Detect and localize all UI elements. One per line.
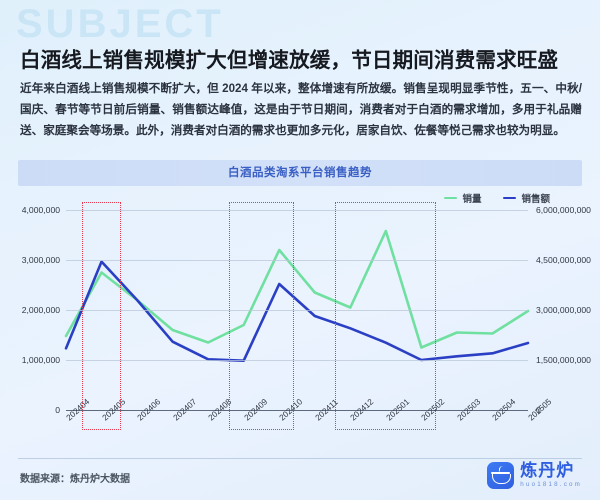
brand-name: 炼丹炉 (520, 462, 582, 479)
infographic-page: SUBJECT 白酒线上销售规模扩大但增速放缓，节日期间消费需求旺盛 近年来白酒… (0, 0, 600, 500)
legend-swatch-sales-amount (503, 197, 516, 199)
page-title: 白酒线上销售规模扩大但增速放缓，节日期间消费需求旺盛 (20, 43, 582, 73)
chart-plot-area: 001,000,0001,500,000,0002,000,0003,000,0… (18, 210, 582, 450)
pot-icon (492, 474, 511, 484)
chart-title: 白酒品类淘系平台销售趋势 (18, 160, 582, 186)
series-line-sales-amount (66, 262, 528, 361)
y-axis-tick-left: 3,000,000 (22, 255, 60, 265)
y-axis-tick-right: 4,500,000,000 (536, 255, 591, 265)
highlight-box (229, 202, 294, 430)
footer-divider (18, 458, 582, 459)
y-axis-tick-left: 2,000,000 (22, 305, 60, 315)
gridline (66, 360, 528, 361)
data-source-label: 数据来源：炼丹炉大数据 (20, 470, 130, 485)
y-axis-tick-right: 6,000,000,000 (536, 205, 591, 215)
chart-card: 白酒品类淘系平台销售趋势 销量 销售额 001,000,0001,500,000… (18, 160, 582, 450)
x-axis-tick: 202505 (526, 396, 553, 422)
legend-label-sales-amount: 销售额 (521, 191, 550, 205)
y-axis-tick-left: 0 (55, 405, 60, 415)
chart-legend: 销量 销售额 (444, 190, 550, 206)
highlight-box (335, 202, 436, 430)
y-axis-tick-left: 4,000,000 (22, 205, 60, 215)
y-axis-tick-right: 1,500,000,000 (536, 355, 591, 365)
y-axis-tick-right: 3,000,000,000 (536, 305, 591, 315)
brand-url: huo1818.com (520, 482, 582, 488)
legend-item-sales-volume[interactable]: 销量 (444, 191, 481, 205)
gridline (66, 310, 528, 311)
legend-label-sales-volume: 销量 (462, 191, 481, 205)
gridline (66, 210, 528, 211)
cauldron-icon (487, 462, 514, 489)
gridline (66, 260, 528, 261)
subject-watermark: SUBJECT (16, 2, 224, 47)
intro-paragraph: 近年来白酒线上销售规模不断扩大，但 2024 年以来，整体增速有所放缓。销售呈现… (20, 78, 582, 141)
highlight-box (82, 202, 121, 430)
brand-text: 炼丹炉 huo1818.com (520, 462, 582, 488)
y-axis-tick-left: 1,000,000 (22, 355, 60, 365)
brand-logo[interactable]: 炼丹炉 huo1818.com (487, 462, 582, 489)
legend-swatch-sales-volume (444, 197, 457, 199)
legend-item-sales-amount[interactable]: 销售额 (503, 191, 550, 205)
series-line-sales-volume (66, 231, 528, 348)
